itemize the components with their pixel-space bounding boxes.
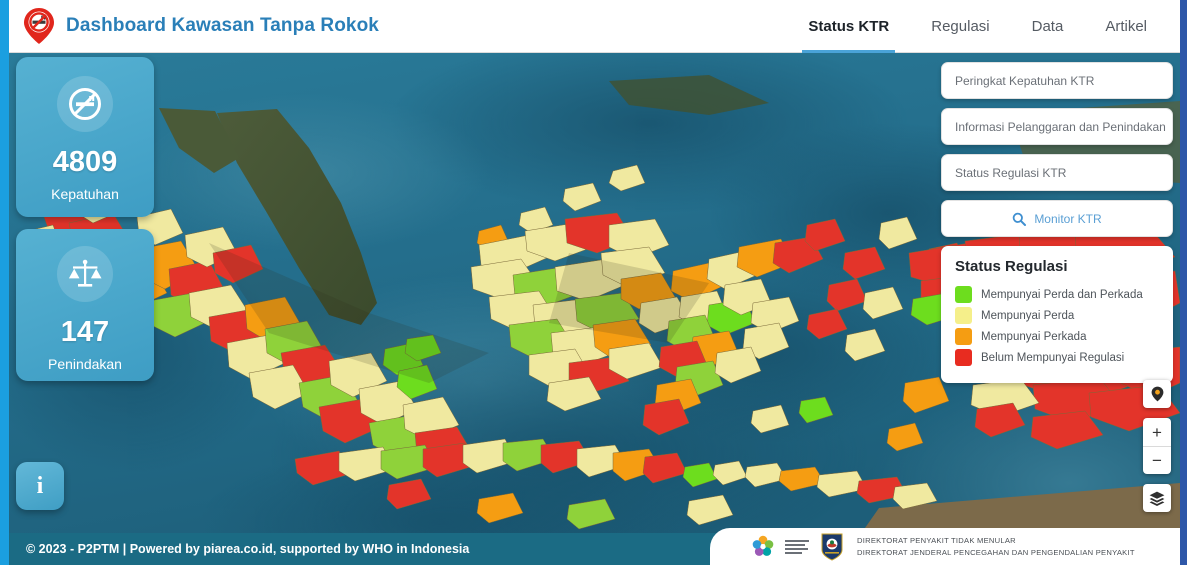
kemenkes-wordmark (785, 538, 811, 556)
footer-org-block: DIREKTORAT PENYAKIT TIDAK MENULAR DIREKT… (710, 528, 1180, 565)
nav-item-regulasi[interactable]: Regulasi (931, 0, 989, 53)
map-side-panel: Peringkat Kepatuhan KTR Informasi Pelang… (941, 62, 1173, 383)
main-nav: Status KTR Regulasi Data Artikel (808, 0, 1147, 53)
app-title: Dashboard Kawasan Tanpa Rokok (66, 15, 379, 37)
legend-item-perkada[interactable]: Mempunyai Perkada (955, 328, 1159, 345)
right-edge-strip (1180, 0, 1187, 565)
stat-value-kepatuhan: 4809 (53, 148, 118, 177)
footer-org-line1: DIREKTORAT PENYAKIT TIDAK MENULAR (857, 535, 1135, 547)
info-button[interactable]: i (16, 462, 64, 510)
legend-item-belum-regulasi[interactable]: Belum Mempunyai Regulasi (955, 349, 1159, 366)
legend-label: Belum Mempunyai Regulasi (981, 352, 1124, 364)
kemenkes-logo (750, 534, 776, 560)
left-edge-strip (0, 0, 9, 565)
location-pin-icon[interactable] (1143, 380, 1171, 408)
panel-button-label: Status Regulasi KTR (955, 166, 1066, 180)
legend-swatch-green (955, 286, 972, 303)
legend-title: Status Regulasi (955, 258, 1159, 275)
nav-item-artikel[interactable]: Artikel (1105, 0, 1147, 53)
map-controls: + − (1143, 380, 1171, 512)
legend-item-perda-perkada[interactable]: Mempunyai Perda dan Perkada (955, 286, 1159, 303)
panel-button-status-regulasi[interactable]: Status Regulasi KTR (941, 154, 1173, 191)
nav-item-data[interactable]: Data (1032, 0, 1064, 53)
layers-icon[interactable] (1143, 484, 1171, 512)
stat-label-kepatuhan: Kepatuhan (51, 186, 119, 202)
stat-card-penindakan[interactable]: 147 Penindakan (16, 229, 154, 381)
footer-org-line2: DIREKTORAT JENDERAL PENCEGAHAN DAN PENGE… (857, 547, 1135, 559)
legend-status-regulasi: Status Regulasi Mempunyai Perda dan Perk… (941, 246, 1173, 383)
nav-item-status-ktr[interactable]: Status KTR (808, 0, 889, 53)
zoom-control: + − (1143, 418, 1171, 474)
legend-swatch-orange (955, 328, 972, 345)
ditjen-p2p-emblem (820, 533, 844, 561)
panel-button-label: Informasi Pelanggaran dan Penindakan (955, 120, 1166, 134)
app-header: Dashboard Kawasan Tanpa Rokok Status KTR… (0, 0, 1187, 53)
legend-swatch-red (955, 349, 972, 366)
footer-org-text: DIREKTORAT PENYAKIT TIDAK MENULAR DIREKT… (857, 535, 1135, 558)
footer-copyright: © 2023 - P2PTM | Powered by piarea.co.id… (26, 542, 469, 556)
dashboard-page: Dashboard Kawasan Tanpa Rokok Status KTR… (0, 0, 1187, 565)
monitor-ktr-label: Monitor KTR (1034, 212, 1101, 226)
legend-swatch-yellow (955, 307, 972, 324)
panel-button-peringkat-kepatuhan[interactable]: Peringkat Kepatuhan KTR (941, 62, 1173, 99)
no-smoking-icon (57, 76, 113, 132)
monitor-ktr-button[interactable]: Monitor KTR (941, 200, 1173, 237)
stat-label-penindakan: Penindakan (48, 356, 122, 372)
locate-control[interactable] (1143, 380, 1171, 408)
search-icon (1012, 212, 1026, 226)
legend-label: Mempunyai Perkada (981, 331, 1086, 343)
legend-label: Mempunyai Perda dan Perkada (981, 289, 1143, 301)
legend-item-perda[interactable]: Mempunyai Perda (955, 307, 1159, 324)
no-smoking-map-pin-icon (22, 7, 56, 45)
brand[interactable]: Dashboard Kawasan Tanpa Rokok (22, 7, 379, 45)
legend-label: Mempunyai Perda (981, 310, 1074, 322)
layers-control[interactable] (1143, 484, 1171, 512)
scales-of-justice-icon (57, 246, 113, 302)
panel-button-label: Peringkat Kepatuhan KTR (955, 74, 1094, 88)
zoom-in-button[interactable]: + (1143, 418, 1171, 446)
zoom-out-button[interactable]: − (1143, 446, 1171, 474)
stat-value-penindakan: 147 (61, 318, 109, 347)
panel-button-informasi-pelanggaran[interactable]: Informasi Pelanggaran dan Penindakan (941, 108, 1173, 145)
stat-card-kepatuhan[interactable]: 4809 Kepatuhan (16, 57, 154, 217)
